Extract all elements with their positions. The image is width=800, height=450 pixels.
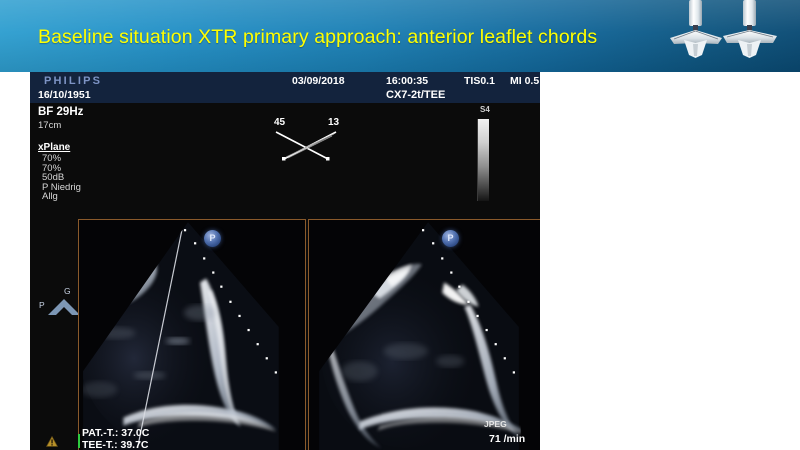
patient-dob: 16/10/1951 xyxy=(38,89,91,101)
depth-label: 17cm xyxy=(38,120,61,131)
mitral-clip-device-icon-right xyxy=(716,0,788,72)
philips-logo: PHILIPS xyxy=(44,75,102,87)
temperature-warning-icon xyxy=(46,436,58,447)
ultrasound-capture: PHILIPS 03/09/2018 16:00:35 TIS0.1 MI 0.… xyxy=(30,72,540,450)
preset-label: Allg xyxy=(42,192,81,202)
title-banner: Baseline situation XTR primary approach:… xyxy=(0,0,800,72)
format-label: JPEG xyxy=(484,419,507,429)
exam-date: 03/09/2018 xyxy=(292,75,345,87)
patient-temperature: PAT.-T.: 37.0C xyxy=(82,427,149,439)
probe-position-marker-left: P xyxy=(204,230,221,247)
frame-rate-label: BF 29Hz xyxy=(38,106,83,118)
probe-temperature: TEE-T.: 39.7C xyxy=(82,439,149,450)
plane-angle-right-value: 13 xyxy=(328,117,339,128)
mode-label: xPlane xyxy=(38,142,70,153)
presentation-slide: Baseline situation XTR primary approach:… xyxy=(0,0,800,450)
plane-angle-cross-icon xyxy=(252,117,362,165)
ultrasound-header-bar: PHILIPS 03/09/2018 16:00:35 TIS0.1 MI 0.… xyxy=(30,72,540,103)
plane-angle-left-value: 45 xyxy=(274,117,285,128)
ultrasound-imaging-area: BF 29Hz 17cm xPlane 70% 70% 50dB P Niedr… xyxy=(30,103,540,450)
probe-label: CX7-2t/TEE xyxy=(386,89,445,101)
page-title: Baseline situation XTR primary approach:… xyxy=(38,26,658,49)
compass-label-g: G xyxy=(64,286,71,296)
exam-time: 16:00:35 xyxy=(386,75,428,87)
mi-value: MI 0.5 xyxy=(510,75,539,87)
xplane-sector-left[interactable]: P xyxy=(78,219,306,450)
tis-value: TIS0.1 xyxy=(464,75,495,87)
xplane-sector-right[interactable]: P JPEG 71 /min xyxy=(308,219,540,450)
echo-sector-image-left xyxy=(79,220,305,450)
heart-rate-label: 71 /min xyxy=(489,433,525,445)
echo-sector-image-right xyxy=(309,220,540,450)
compass-label-p: P xyxy=(39,300,45,310)
plane-angle-indicator: 45 13 xyxy=(252,117,362,165)
gray-scale-bar xyxy=(477,119,489,201)
gray-scale-map-label: S4 xyxy=(480,105,490,114)
probe-position-marker-right: P xyxy=(442,230,459,247)
acquisition-parameters: 70% 70% 50dB P Niedrig Allg xyxy=(42,154,81,202)
temperature-status-bar xyxy=(78,434,80,448)
